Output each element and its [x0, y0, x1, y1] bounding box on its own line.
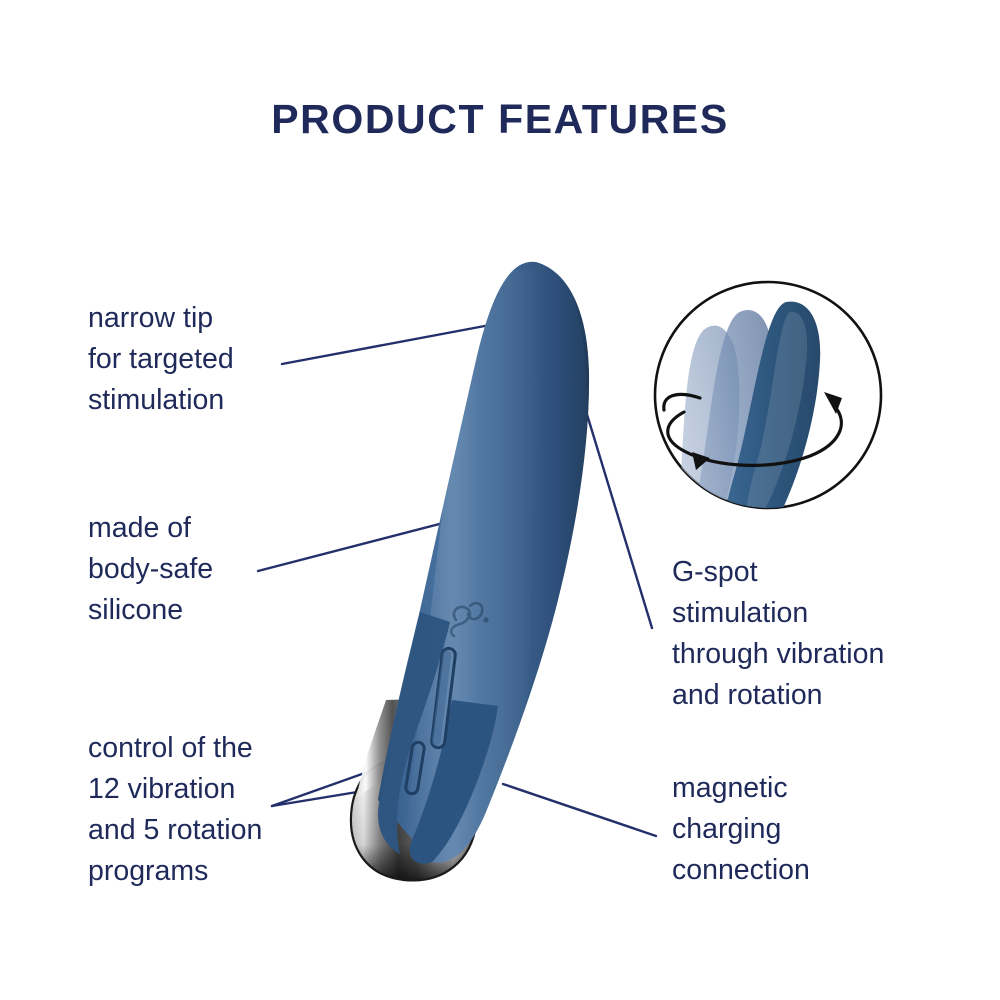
callout-vibration-rotation-control: control of the 12 vibration and 5 rotati…: [88, 728, 358, 892]
product-features-infographic: PRODUCT FEATURES: [0, 0, 1000, 1000]
callout-magnetic-charging: magnetic charging connection: [672, 768, 922, 891]
callout-narrow-tip: narrow tip for targeted stimulation: [88, 298, 338, 421]
callout-body-safe-silicone: made of body-safe silicone: [88, 508, 338, 631]
callout-g-spot-stimulation: G-spot stimulation through vibration and…: [672, 552, 942, 716]
product-body: [350, 260, 610, 880]
rotation-inset: [635, 282, 881, 559]
leader-line-gspot: [582, 398, 652, 628]
leader-line-magnetic: [503, 784, 656, 836]
